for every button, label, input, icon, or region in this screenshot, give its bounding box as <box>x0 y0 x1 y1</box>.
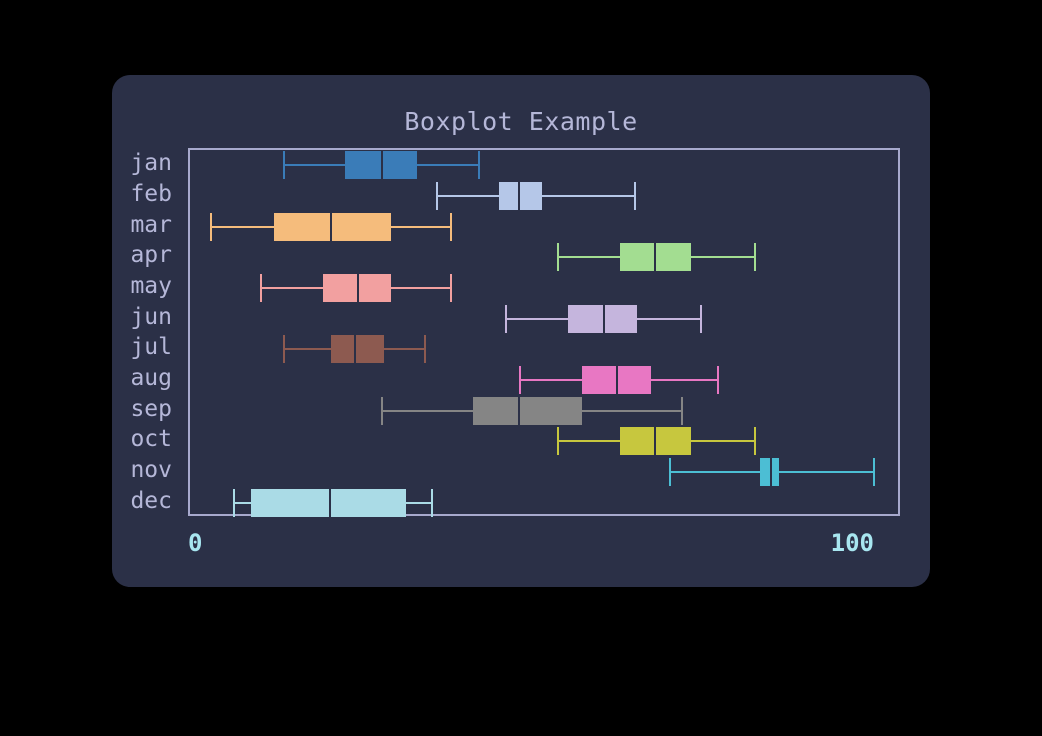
whisker-high-line <box>406 502 432 504</box>
figure-card: Boxplot Example janfebmaraprmayjunjulaug… <box>112 75 930 587</box>
whisker-low-line <box>234 502 251 504</box>
median-line <box>329 489 331 517</box>
y-label-nov: nov <box>130 459 172 482</box>
boxplot-dec <box>190 150 898 518</box>
y-label-dec: dec <box>130 490 172 513</box>
plot-inner <box>190 150 898 514</box>
y-label-mar: mar <box>130 214 172 237</box>
y-label-apr: apr <box>130 244 172 267</box>
chart-title: Boxplot Example <box>112 107 930 136</box>
y-label-may: may <box>130 275 172 298</box>
y-label-jan: jan <box>130 152 172 175</box>
y-label-jul: jul <box>130 336 172 359</box>
y-label-oct: oct <box>130 428 172 451</box>
y-label-jun: jun <box>130 306 172 329</box>
plot-area <box>188 148 900 516</box>
y-axis-labels: janfebmaraprmayjunjulaugsepoctnovdec <box>112 148 184 516</box>
y-label-aug: aug <box>130 367 172 390</box>
y-label-feb: feb <box>130 183 172 206</box>
whisker-high-cap <box>431 489 433 517</box>
x-axis-tick-min: 0 <box>188 529 202 557</box>
x-axis-tick-max: 100 <box>762 529 874 557</box>
screenshot-root: Boxplot Example janfebmaraprmayjunjulaug… <box>0 0 1042 736</box>
whisker-low-cap <box>233 489 235 517</box>
y-label-sep: sep <box>130 398 172 421</box>
